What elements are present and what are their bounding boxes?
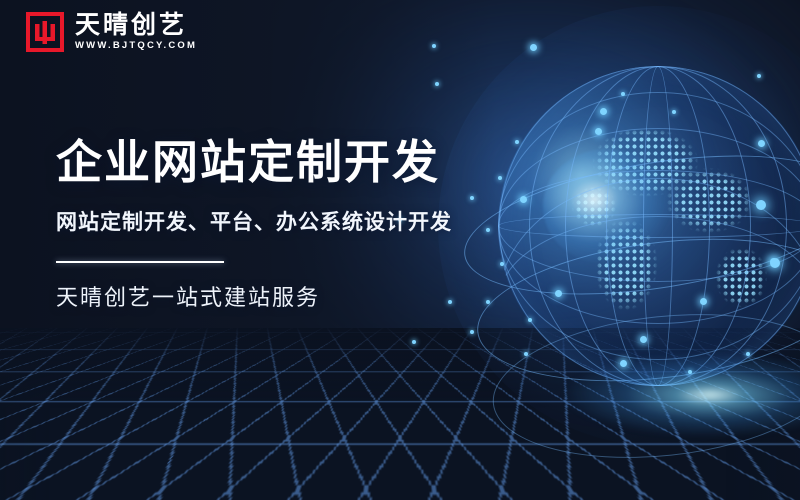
tianqing-chuangyi-logo-mark-icon	[26, 12, 64, 52]
globe-base-glow	[560, 352, 800, 438]
logo-website-url: WWW.BJTQCY.COM	[75, 41, 197, 51]
wireframe-globe	[498, 66, 800, 386]
hero-banner: 天晴创艺 WWW.BJTQCY.COM 企业网站定制开发 网站定制开发、平台、办…	[0, 0, 800, 500]
hero-subheadline: 网站定制开发、平台、办公系统设计开发	[56, 210, 452, 235]
hero-tagline: 天晴创艺一站式建站服务	[56, 285, 452, 311]
site-logo[interactable]: 天晴创艺 WWW.BJTQCY.COM	[26, 12, 197, 52]
hero-headline: 企业网站定制开发	[56, 138, 452, 188]
logo-company-name: 天晴创艺	[75, 13, 197, 38]
hero-divider	[56, 261, 224, 263]
hero-copy-block: 企业网站定制开发 网站定制开发、平台、办公系统设计开发 天晴创艺一站式建站服务	[56, 138, 452, 311]
